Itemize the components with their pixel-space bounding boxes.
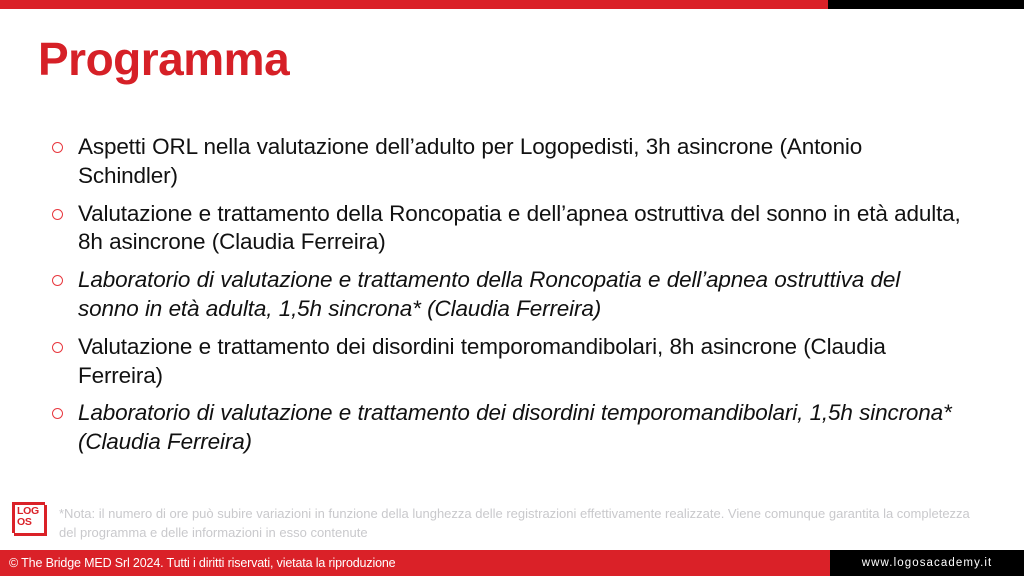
list-item: Laboratorio di valutazione e trattamento… (52, 399, 962, 457)
footer-copyright-text: © The Bridge MED Srl 2024. Tutti i dirit… (9, 556, 396, 570)
footer-website-text: www.logosacademy.it (862, 557, 993, 569)
footer-website-segment: www.logosacademy.it (830, 550, 1024, 576)
top-accent-bar (0, 0, 1024, 9)
circle-outline-icon (52, 333, 78, 353)
list-item-label: Laboratorio di valutazione e trattamento… (78, 266, 962, 324)
top-accent-bar-black-segment (828, 0, 1024, 9)
page-title: Programma (38, 34, 289, 85)
footnote-row: LOG OS *Nota: il numero di ore può subir… (0, 498, 1024, 546)
footer-bar: © The Bridge MED Srl 2024. Tutti i dirit… (0, 550, 1024, 576)
top-accent-bar-red-segment (0, 0, 828, 9)
list-item-label: Aspetti ORL nella valutazione dell’adult… (78, 133, 962, 191)
list-item: Aspetti ORL nella valutazione dell’adult… (52, 133, 962, 191)
circle-outline-icon (52, 133, 78, 153)
list-item-label: Valutazione e trattamento dei disordini … (78, 333, 962, 391)
list-item-label: Valutazione e trattamento della Roncopat… (78, 200, 962, 258)
footer-copyright-segment: © The Bridge MED Srl 2024. Tutti i dirit… (0, 550, 830, 576)
list-item-label: Laboratorio di valutazione e trattamento… (78, 399, 962, 457)
logos-logo-icon: LOG OS (12, 502, 50, 538)
circle-outline-icon (52, 266, 78, 286)
list-item: Valutazione e trattamento dei disordini … (52, 333, 962, 391)
circle-outline-icon (52, 200, 78, 220)
list-item: Valutazione e trattamento della Roncopat… (52, 200, 962, 258)
logo-text-bottom: OS (17, 516, 32, 528)
circle-outline-icon (52, 399, 78, 419)
program-bullet-list: Aspetti ORL nella valutazione dell’adult… (52, 133, 962, 466)
footnote-text: *Nota: il numero di ore può subire varia… (59, 505, 989, 543)
list-item: Laboratorio di valutazione e trattamento… (52, 266, 962, 324)
